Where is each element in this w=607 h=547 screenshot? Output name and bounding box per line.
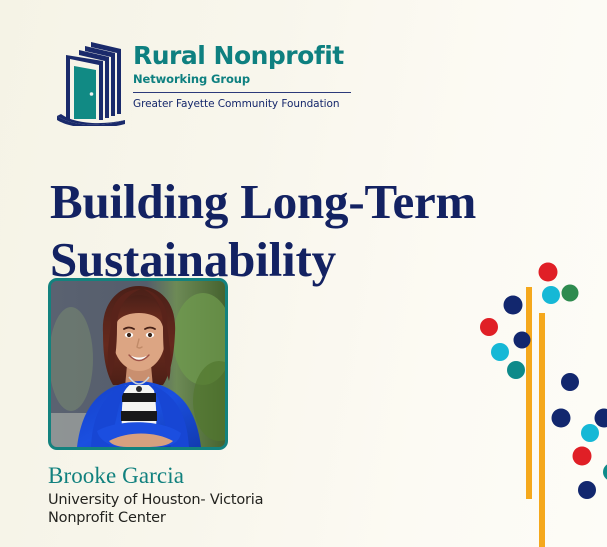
decorative-dot-3 <box>542 286 560 304</box>
logo-title: Rural Nonprofit <box>133 42 355 70</box>
speaker-portrait-image <box>51 281 225 447</box>
decoration-graphic <box>460 250 607 547</box>
speaker-affiliation: University of Houston- Victoria Nonprofi… <box>48 491 263 527</box>
decorative-dot-2 <box>562 285 579 302</box>
decorative-dot-11 <box>581 424 599 442</box>
organization-logo: Rural Nonprofit Networking Group Greater… <box>55 36 355 128</box>
logo-subtitle: Networking Group <box>133 72 355 87</box>
decorative-bar-1 <box>526 287 532 499</box>
speaker-photo <box>48 278 228 450</box>
decorative-dot-4 <box>504 296 523 315</box>
decorative-dot-13 <box>573 447 592 466</box>
logo-divider <box>133 92 351 93</box>
speaker-name: Brooke Garcia <box>48 462 184 489</box>
decorative-dot-9 <box>561 373 579 391</box>
logo-wordmark: Rural Nonprofit Networking Group Greater… <box>133 42 355 111</box>
decorative-dot-1 <box>539 263 558 282</box>
decorative-dots-and-bars <box>460 250 607 547</box>
decorative-dot-5 <box>480 318 498 336</box>
page-title-line-1: Building Long-Term <box>50 174 476 229</box>
decorative-dot-12 <box>578 481 596 499</box>
decorative-dot-15 <box>603 463 607 481</box>
decorative-dot-8 <box>507 361 525 379</box>
decorative-bar-2 <box>539 313 545 547</box>
speaker-affiliation-line-1: University of Houston- Victoria <box>48 491 263 509</box>
open-door-icon <box>55 36 127 126</box>
speaker-affiliation-line-2: Nonprofit Center <box>48 509 263 527</box>
logo-foundation-line: Greater Fayette Community Foundation <box>133 97 355 111</box>
decorative-dot-7 <box>491 343 509 361</box>
decorative-dot-6 <box>514 332 531 349</box>
decorative-dot-10 <box>552 409 571 428</box>
slide-canvas: Rural Nonprofit Networking Group Greater… <box>0 0 607 547</box>
decorative-dot-14 <box>595 409 607 428</box>
